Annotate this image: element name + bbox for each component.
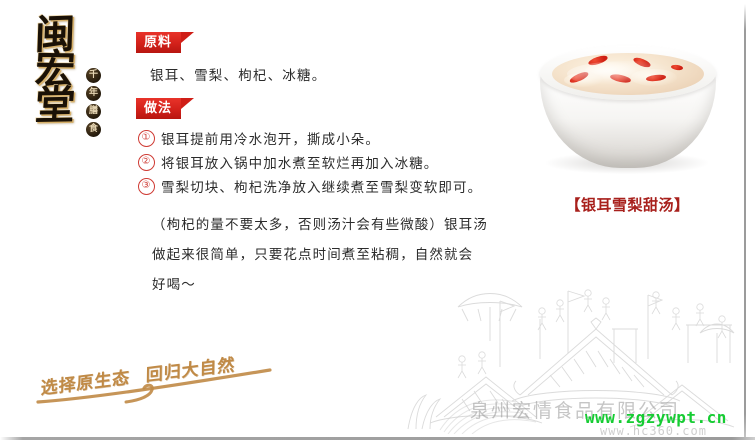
ingredients-banner-label: 原料 [136, 32, 181, 53]
recipe-content: 原料 银耳、雪梨、枸杞、冰糖。 做法 ① 银耳提前用冷水泡开，撕成小朵。 ② 将… [136, 32, 526, 300]
method-banner-label: 做法 [136, 98, 181, 119]
step-text: 银耳提前用冷水泡开，撕成小朵。 [161, 128, 526, 148]
goji-berry [632, 56, 651, 69]
method-banner: 做法 [136, 98, 194, 119]
goji-berry [646, 74, 666, 82]
brand-slogan: 选择原生态回归大自然 [34, 358, 284, 414]
goji-berry [609, 73, 631, 84]
note-line-3: 好喝～ [152, 270, 526, 300]
ingredients-banner: 原料 [136, 32, 194, 53]
brand-seal-stack: 千 年 膳 食 [86, 68, 101, 137]
note-line-1: （枸杞的量不要太多，否则汤汁会有些微酸）银耳汤 [152, 210, 526, 240]
fungus-piece [585, 62, 640, 80]
banner-tail-icon [181, 32, 194, 53]
step-number: ② [138, 154, 155, 171]
page-border-right [744, 4, 746, 440]
recipe-poster: 闽 宏 堂 千 年 膳 食 原料 银耳、雪梨、枸杞、冰糖。 做法 ① 银耳提前用… [0, 0, 755, 440]
dish-caption: 【银耳雪梨甜汤】 [520, 194, 735, 215]
dish-photo: 【银耳雪梨甜汤】 [520, 26, 735, 191]
method-note: （枸杞的量不要太多，否则汤汁会有些微酸）银耳汤 做起来很简单，只要花点时间煮至粘… [152, 210, 526, 300]
soup-bowl-illustration [528, 36, 728, 186]
fungus-piece [631, 69, 677, 86]
brand-logo-characters: 闽 宏 堂 [24, 16, 86, 125]
step-item: ③ 雪梨切块、枸杞洗净放入继续煮至雪梨变软即可。 [138, 176, 526, 196]
soup-surface [552, 53, 704, 95]
seal-char-1: 千 [86, 68, 101, 83]
ingredients-text: 银耳、雪梨、枸杞、冰糖。 [150, 64, 526, 84]
goji-berry [670, 64, 683, 71]
step-item: ① 银耳提前用冷水泡开，撕成小朵。 [138, 128, 526, 148]
banner-tail-icon [181, 98, 194, 119]
method-steps: ① 银耳提前用冷水泡开，撕成小朵。 ② 将银耳放入锅中加水煮至软烂再加入冰糖。 … [138, 128, 526, 196]
seal-char-2: 年 [86, 86, 101, 101]
seal-char-3: 膳 [86, 104, 101, 119]
step-number: ① [138, 130, 155, 147]
note-line-2: 做起来很简单，只要花点时间煮至粘稠，自然就会 [152, 240, 526, 270]
brand-logo: 闽 宏 堂 千 年 膳 食 [18, 16, 133, 156]
step-number: ③ [138, 178, 155, 195]
goji-berry [588, 54, 609, 67]
step-item: ② 将银耳放入锅中加水煮至软烂再加入冰糖。 [138, 152, 526, 172]
logo-char-3: 堂 [34, 86, 77, 125]
step-text: 雪梨切块、枸杞洗净放入继续煮至雪梨变软即可。 [161, 176, 526, 196]
watermark-sub-url: www.hc360.com [600, 424, 707, 438]
seal-char-4: 食 [86, 122, 101, 137]
step-text: 将银耳放入锅中加水煮至软烂再加入冰糖。 [161, 152, 526, 172]
